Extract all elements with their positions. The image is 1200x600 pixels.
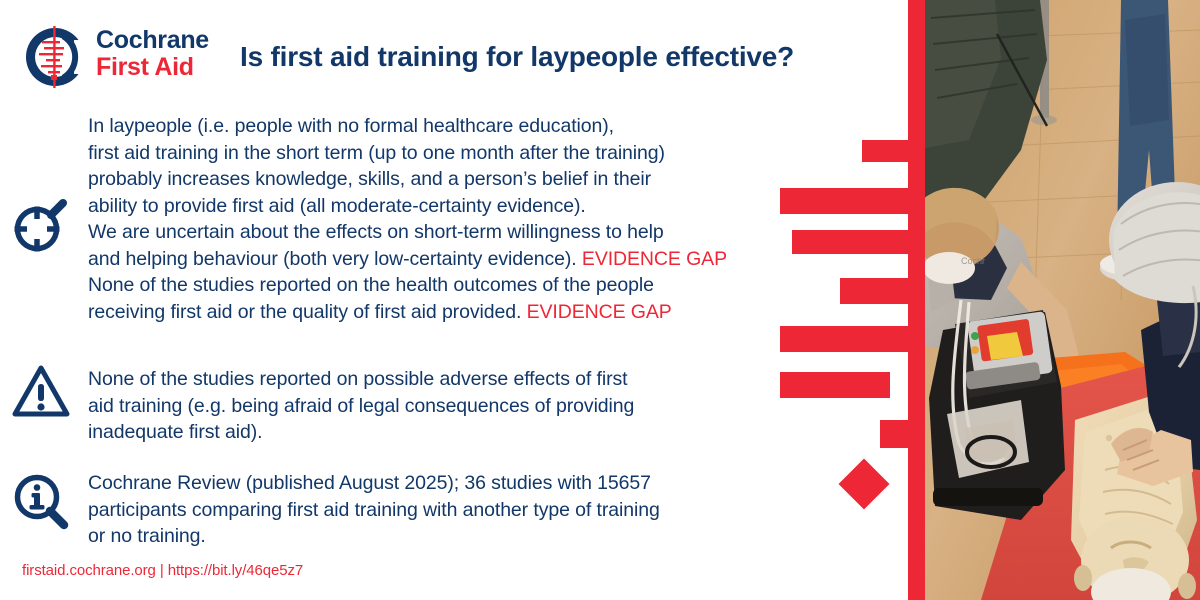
- review-details-paragraph: Cochrane Review (published August 2025);…: [88, 470, 828, 550]
- forest-plot-graphic: [780, 0, 930, 600]
- text-line: aid training (e.g. being afraid of legal…: [88, 393, 828, 420]
- info-magnifier-icon: [12, 472, 70, 530]
- text-line: ability to provide first aid (all modera…: [88, 193, 828, 220]
- text-line-body: None of the studies reported on possible…: [88, 368, 627, 390]
- text-line: inadequate first aid).: [88, 419, 828, 446]
- text-line-body: None of the studies reported on the heal…: [88, 274, 654, 296]
- text-line: In laypeople (i.e. people with no formal…: [88, 113, 828, 140]
- evidence-gap-tag: EVIDENCE GAP: [577, 248, 727, 270]
- svg-text:Cochr: Cochr: [961, 256, 985, 266]
- forest-plot-bar: [880, 420, 926, 448]
- text-line-body: participants comparing first aid trainin…: [88, 499, 660, 521]
- header: Cochrane First Aid Is first aid training…: [0, 0, 900, 100]
- text-line-body: Cochrane Review (published August 2025);…: [88, 472, 651, 494]
- infographic-page: Cochrane First Aid Is first aid training…: [0, 0, 1200, 600]
- target-crosshair-icon: [12, 196, 70, 254]
- text-line-body: first aid training in the short term (up…: [88, 142, 665, 164]
- forest-plot-bar: [792, 230, 908, 254]
- text-line: participants comparing first aid trainin…: [88, 497, 828, 524]
- forest-plot-bar: [780, 326, 926, 352]
- logo-line-cochrane: Cochrane: [96, 27, 236, 54]
- text-line: None of the studies reported on the heal…: [88, 272, 828, 299]
- text-line-body: aid training (e.g. being afraid of legal…: [88, 395, 634, 417]
- forest-plot-summary-diamond: [839, 459, 890, 510]
- logo-wordmark: Cochrane First Aid: [96, 27, 236, 81]
- text-line-body: or no training.: [88, 525, 206, 547]
- text-line: receiving first aid or the quality of fi…: [88, 299, 828, 326]
- text-line: probably increases knowledge, skills, an…: [88, 166, 828, 193]
- text-line-body: We are uncertain about the effects on sh…: [88, 221, 664, 243]
- text-line-body: inadequate first aid).: [88, 421, 263, 443]
- text-line-body: In laypeople (i.e. people with no formal…: [88, 115, 614, 137]
- evidence-gap-tag: EVIDENCE GAP: [521, 301, 671, 323]
- footer-link[interactable]: firstaid.cochrane.org | https://bit.ly/4…: [22, 562, 303, 579]
- logo-line-first-aid: First Aid: [96, 54, 236, 81]
- forest-plot-bar: [840, 278, 928, 304]
- text-line: None of the studies reported on possible…: [88, 366, 828, 393]
- text-line-body: probably increases knowledge, skills, an…: [88, 168, 651, 190]
- cochrane-first-aid-logo: Cochrane First Aid: [22, 26, 232, 88]
- warning-triangle-icon: [12, 362, 70, 420]
- text-line: and helping behaviour (both very low-cer…: [88, 246, 828, 273]
- text-line: first aid training in the short term (up…: [88, 140, 828, 167]
- text-line-body: receiving first aid or the quality of fi…: [88, 301, 521, 323]
- adverse-effects-paragraph: None of the studies reported on possible…: [88, 366, 828, 446]
- forest-plot-bar: [780, 188, 930, 214]
- cochrane-forest-plot-circle-icon: [22, 26, 88, 88]
- forest-plot-bar: [780, 372, 890, 398]
- text-line-body: and helping behaviour (both very low-cer…: [88, 248, 577, 270]
- forest-plot-bar: [862, 140, 908, 162]
- text-line: or no training.: [88, 523, 828, 550]
- findings-paragraph: In laypeople (i.e. people with no formal…: [88, 113, 828, 325]
- text-line-body: ability to provide first aid (all modera…: [88, 195, 586, 217]
- text-line: Cochrane Review (published August 2025);…: [88, 470, 828, 497]
- first-aid-training-photo: Cochr: [925, 0, 1200, 600]
- text-line: We are uncertain about the effects on sh…: [88, 219, 828, 246]
